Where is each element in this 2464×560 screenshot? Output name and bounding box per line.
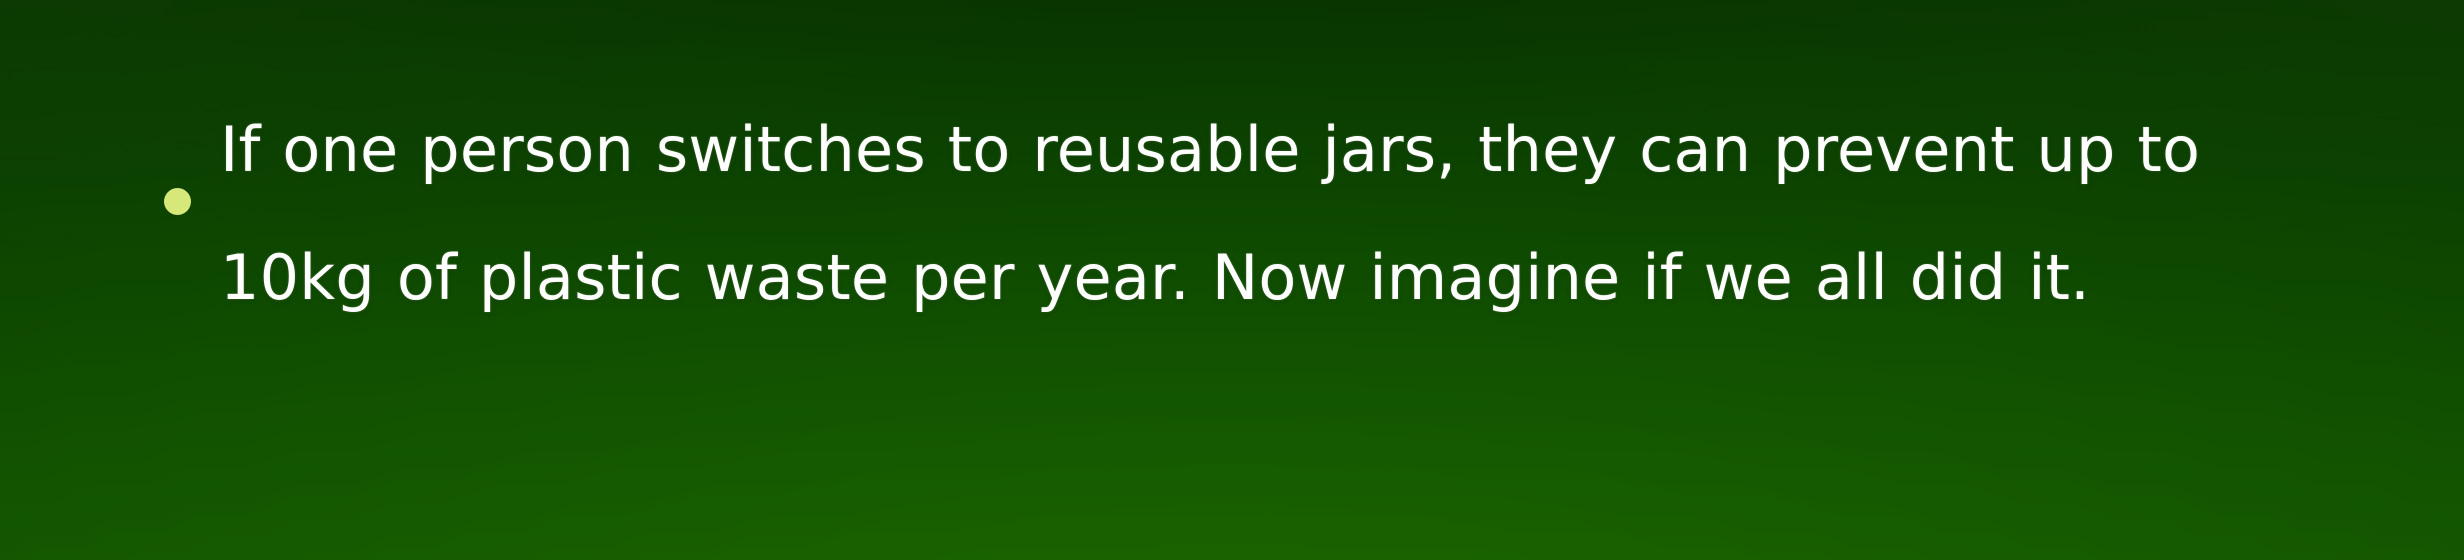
slide-content: If one person switches to reusable jars,… bbox=[150, 86, 2330, 342]
slide-canvas: If one person switches to reusable jars,… bbox=[0, 0, 2464, 560]
bullet-point-icon bbox=[164, 188, 191, 215]
bullet-list-item: If one person switches to reusable jars,… bbox=[150, 86, 2330, 342]
bullet-item-text: If one person switches to reusable jars,… bbox=[220, 86, 2330, 342]
